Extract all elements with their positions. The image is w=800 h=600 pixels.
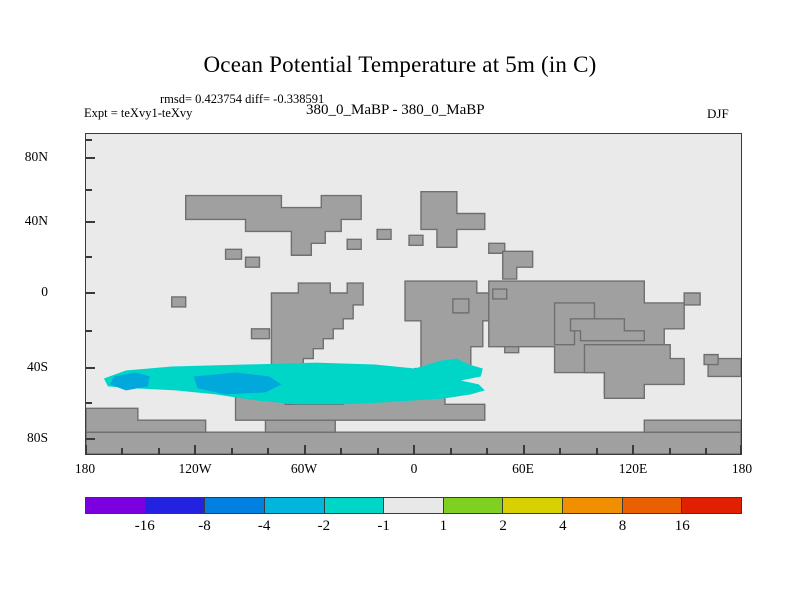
ylabel-40s: 40S	[0, 359, 48, 375]
dataset-comparison-label: 380_0_MaBP - 380_0_MaBP	[306, 102, 485, 119]
statistics-line: rmsd= 0.423754 diff= -0.338591	[160, 92, 324, 107]
land-island-5	[453, 299, 469, 313]
experiment-label: Expt = teXvy1-teXvy	[84, 106, 192, 121]
xtick-60w	[304, 445, 306, 455]
season-label: DJF	[707, 106, 729, 122]
colorbar-label-8: 8	[593, 518, 653, 535]
xtick-minor	[669, 448, 671, 455]
map-plot-area	[85, 133, 742, 455]
colorbar-label-7: 4	[533, 518, 593, 535]
colorbar-segment-4	[324, 498, 384, 513]
land-arabia	[503, 251, 533, 279]
xtick-minor	[377, 448, 379, 455]
land-pacific-isle-1	[684, 293, 700, 305]
land-island-4	[377, 229, 391, 239]
xlabel-60w: 60W	[264, 461, 344, 477]
colorbar	[85, 497, 742, 514]
colorbar-segment-2	[204, 498, 264, 513]
xlabel-180w: 180	[45, 461, 125, 477]
colorbar-segment-7	[502, 498, 562, 513]
colorbar-segment-5	[383, 498, 443, 513]
ylabel-80s: 80S	[0, 430, 48, 446]
colorbar-label-6: 2	[473, 518, 533, 535]
map-canvas	[86, 134, 741, 454]
ytick-40s	[85, 367, 95, 369]
page-title: Ocean Potential Temperature at 5m (in C)	[0, 52, 800, 78]
land-antarctica-shelf-w	[86, 408, 206, 432]
land-europe-isle-1	[347, 239, 361, 249]
xtick-minor	[596, 448, 598, 455]
ytick-80s	[85, 438, 95, 440]
xtick-180w	[85, 445, 87, 455]
xtick-minor	[450, 448, 452, 455]
colorbar-label-4: -1	[354, 518, 414, 535]
xtick-minor	[158, 448, 160, 455]
xtick-minor	[705, 448, 707, 455]
xlabel-0: 0	[374, 461, 454, 477]
land-island-3	[493, 289, 507, 299]
xlabel-120e: 120E	[593, 461, 673, 477]
xtick-0	[413, 445, 415, 455]
ytick-minor	[85, 330, 92, 332]
colorbar-segment-8	[562, 498, 622, 513]
xlabel-180e: 180	[702, 461, 782, 477]
ytick-minor	[85, 256, 92, 258]
colorbar-segment-1	[145, 498, 205, 513]
ylabel-0: 0	[0, 284, 48, 300]
land-australia	[584, 345, 684, 399]
xtick-180e	[740, 445, 742, 455]
colorbar-label-2: -4	[234, 518, 294, 535]
xlabel-120w: 120W	[155, 461, 235, 477]
ytick-minor	[85, 402, 92, 404]
colorbar-label-9: 16	[652, 518, 712, 535]
land-island-6	[704, 355, 718, 365]
land-antarctica-shelf-e	[644, 420, 741, 432]
land-north-america	[186, 196, 361, 256]
ytick-minor	[85, 139, 92, 141]
land-caribbean-1	[226, 249, 242, 259]
land-central-america	[251, 329, 269, 339]
xtick-minor	[267, 448, 269, 455]
colorbar-label-3: -2	[294, 518, 354, 535]
colorbar-segment-10	[681, 498, 741, 513]
colorbar-segment-6	[443, 498, 503, 513]
xtick-60e	[523, 445, 525, 455]
ytick-40n	[85, 221, 95, 223]
anomaly-layer	[104, 359, 485, 405]
xtick-minor	[340, 448, 342, 455]
land-europe	[421, 192, 485, 248]
land-caribbean-2	[246, 257, 260, 267]
ylabel-40n: 40N	[0, 213, 48, 229]
xlabel-60e: 60E	[483, 461, 563, 477]
colorbar-segment-3	[264, 498, 324, 513]
anomaly-cool-shelf	[104, 359, 485, 405]
xtick-120w	[194, 445, 196, 455]
landmass-layer	[86, 192, 741, 454]
colorbar-segment-9	[622, 498, 682, 513]
land-island-2	[409, 235, 423, 245]
ytick-80n	[85, 157, 95, 159]
colorbar-label-1: -8	[174, 518, 234, 535]
ytick-minor	[85, 189, 92, 191]
land-antarctica-ridge	[265, 420, 335, 432]
colorbar-label-0: -16	[115, 518, 175, 535]
climate-map-figure: Ocean Potential Temperature at 5m (in C)…	[0, 0, 800, 600]
xtick-minor	[559, 448, 561, 455]
xtick-minor	[231, 448, 233, 455]
colorbar-label-5: 1	[413, 518, 473, 535]
colorbar-segment-0	[86, 498, 145, 513]
xtick-minor	[121, 448, 123, 455]
ylabel-80n: 80N	[0, 149, 48, 165]
xtick-minor	[486, 448, 488, 455]
ytick-0	[85, 292, 95, 294]
land-island-1	[172, 297, 186, 307]
xtick-120e	[632, 445, 634, 455]
